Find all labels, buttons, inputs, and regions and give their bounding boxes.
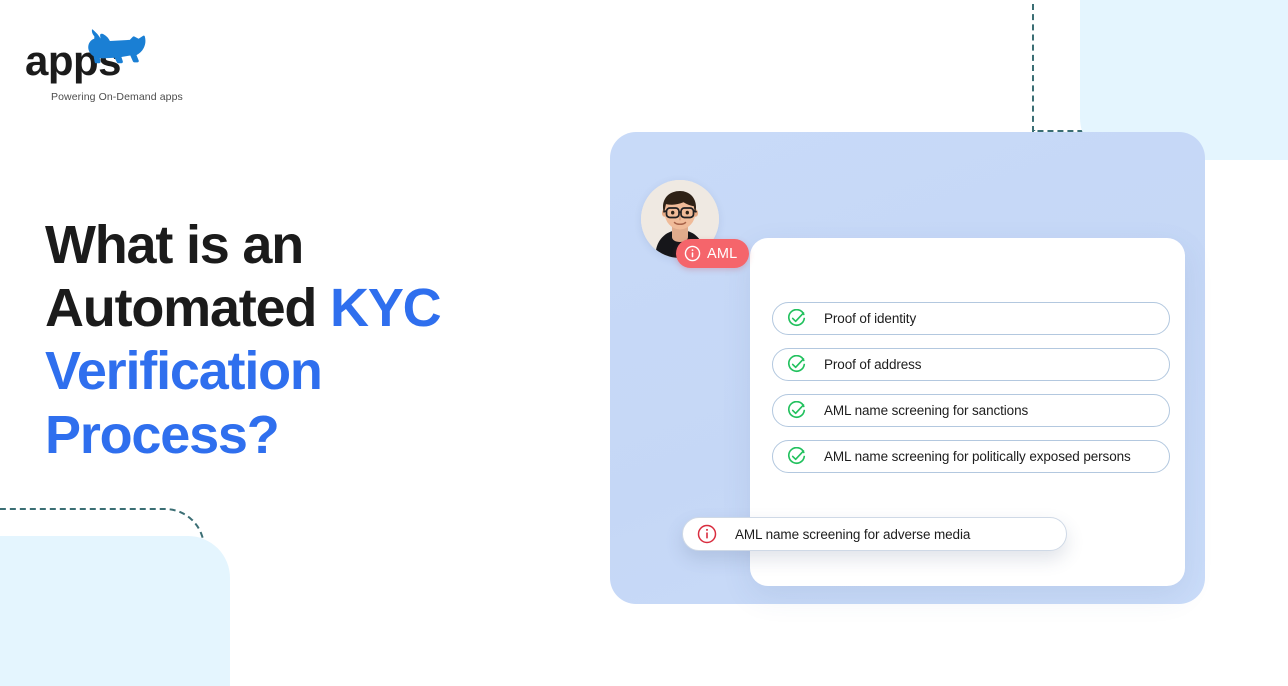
checklist-item[interactable]: AML name screening for politically expos… [772, 440, 1170, 473]
check-circle-icon [787, 401, 806, 420]
headline-line-4-accent: Process? [45, 405, 279, 465]
pale-blue-shape-bottom-left [0, 536, 230, 686]
kyc-illustration: AML Proof of identity [610, 132, 1205, 604]
check-circle-icon [787, 355, 806, 374]
brand-logo[interactable]: apps Powering On-Demand apps [22, 18, 232, 98]
checklist-item-label: Proof of address [824, 357, 921, 372]
headline-line-2-dark: Automated [45, 278, 330, 338]
rhino-icon [80, 28, 154, 70]
info-circle-icon [697, 524, 717, 544]
headline-line-2-accent: KYC [330, 278, 440, 338]
checklist-item-label: AML name screening for politically expos… [824, 449, 1131, 464]
checklist-item[interactable]: AML name screening for sanctions [772, 394, 1170, 427]
headline-line-1: What is an [45, 215, 303, 275]
checklist-item-label: Proof of identity [824, 311, 916, 326]
logo-tagline: Powering On-Demand apps [51, 91, 183, 103]
checklist-item[interactable]: Proof of identity [772, 302, 1170, 335]
hero-page: apps Powering On-Demand apps What is an … [0, 0, 1288, 686]
dashed-outline-shape-bottom-left [0, 508, 205, 686]
checklist-item-label: AML name screening for sanctions [824, 403, 1028, 418]
status-badge-label: AML [707, 246, 737, 262]
status-badge-aml: AML [676, 239, 749, 268]
verification-checklist: Proof of identity Proof of address [772, 302, 1170, 473]
checklist-item[interactable]: Proof of address [772, 348, 1170, 381]
info-circle-icon [684, 245, 701, 262]
alert-item-label: AML name screening for adverse media [735, 527, 970, 542]
check-circle-icon [787, 447, 806, 466]
page-title: What is an Automated KYC Verification Pr… [45, 214, 515, 467]
headline-line-3-accent: Verification [45, 341, 322, 401]
alert-item-adverse-media[interactable]: AML name screening for adverse media [682, 517, 1067, 551]
dashed-outline-shape-top-right [1032, 0, 1288, 132]
check-circle-icon [787, 309, 806, 328]
